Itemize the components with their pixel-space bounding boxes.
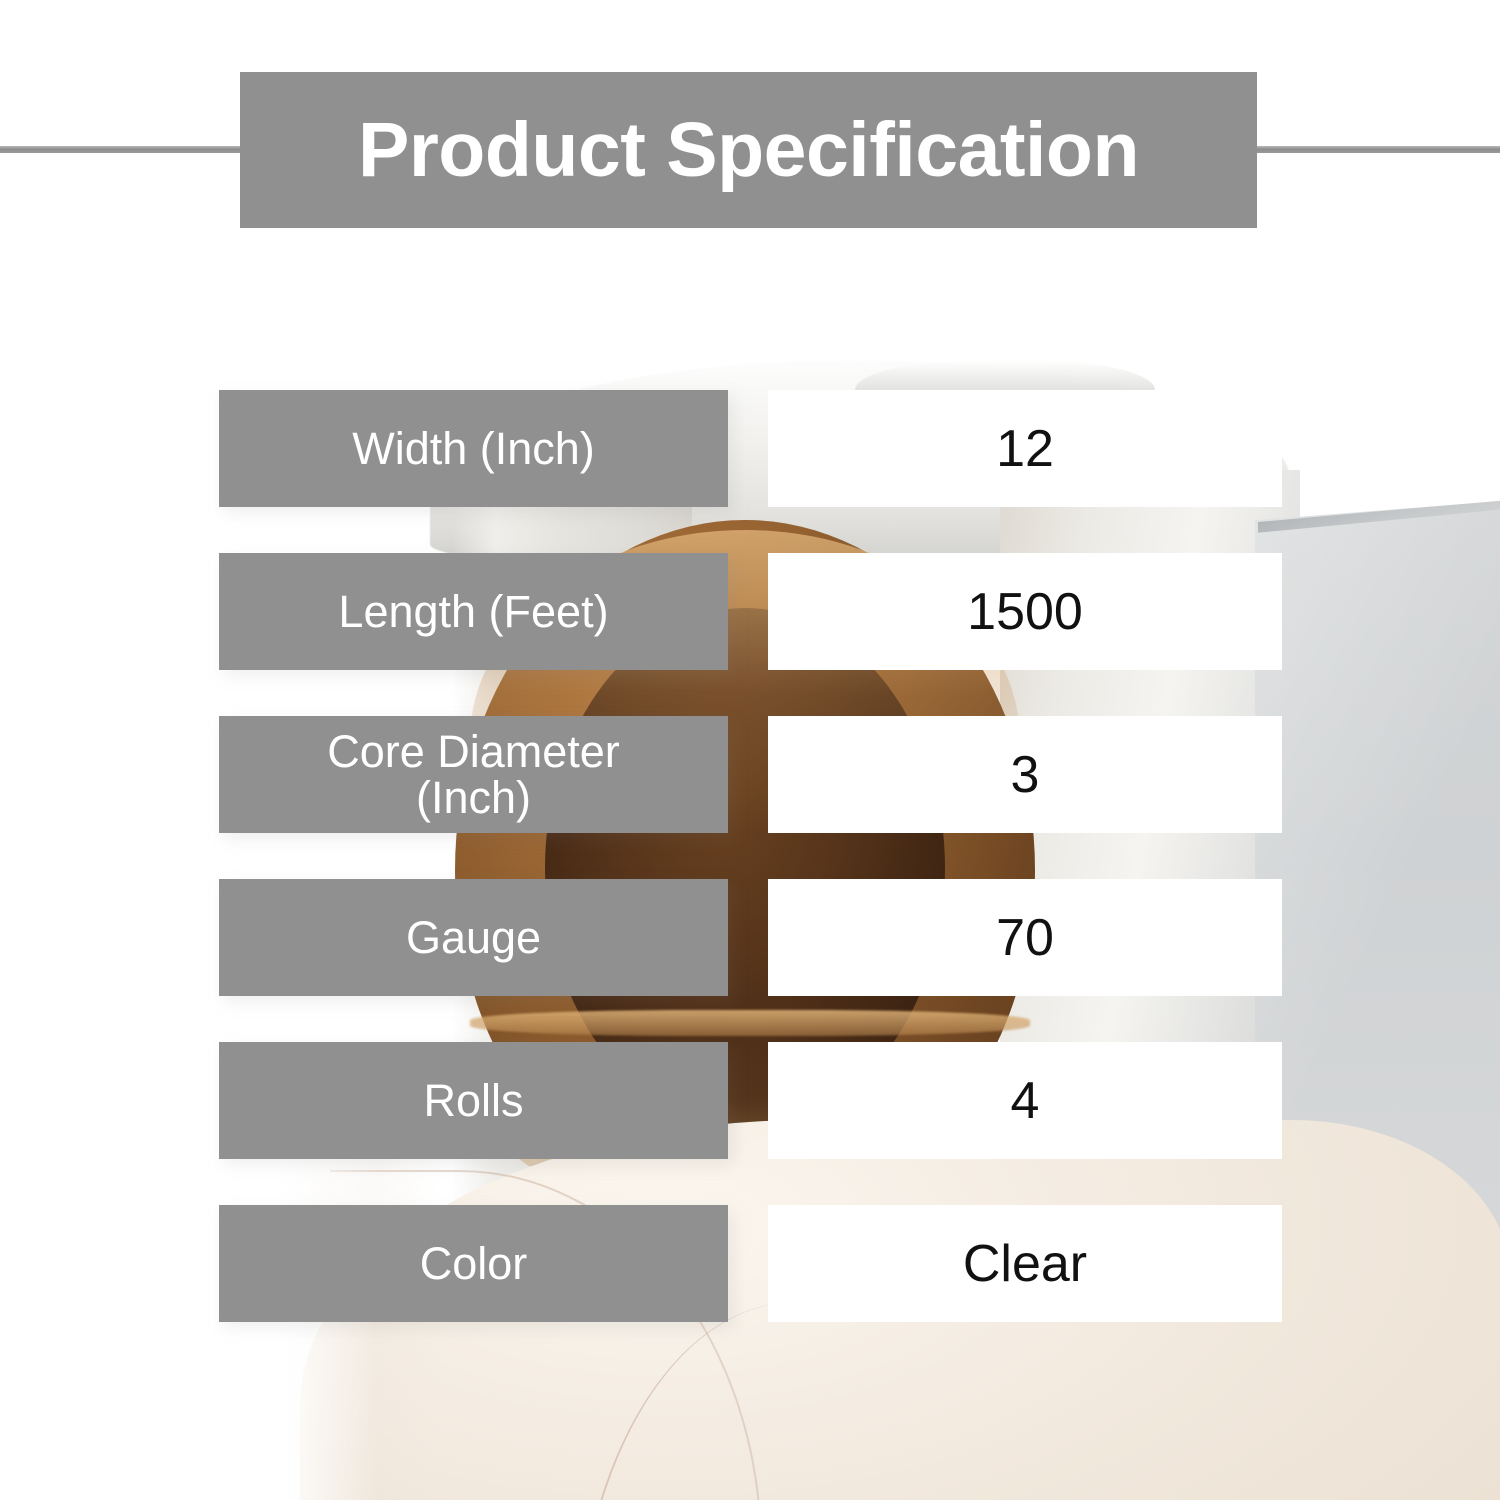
specification-table: Width (Inch)12Length (Feet)1500Core Diam… — [0, 0, 1500, 1500]
spec-label-cell: Width (Inch) — [219, 390, 728, 507]
spec-label-text: Color — [420, 1241, 528, 1287]
spec-value-cell: 70 — [768, 879, 1282, 996]
spec-label-cell: Core Diameter (Inch) — [219, 716, 728, 833]
spec-label-text: Gauge — [406, 915, 541, 961]
spec-label-text: Rolls — [423, 1078, 523, 1124]
spec-label-cell: Color — [219, 1205, 728, 1322]
spec-label-cell: Gauge — [219, 879, 728, 996]
spec-value-cell: 12 — [768, 390, 1282, 507]
spec-value-cell: 1500 — [768, 553, 1282, 670]
spec-value-text: 1500 — [967, 586, 1083, 638]
spec-value-cell: 4 — [768, 1042, 1282, 1159]
spec-row: Length (Feet)1500 — [0, 553, 1500, 670]
spec-row: ColorClear — [0, 1205, 1500, 1322]
spec-row: Gauge70 — [0, 879, 1500, 996]
spec-label-text: Length (Feet) — [338, 589, 608, 635]
spec-value-text: Clear — [963, 1238, 1087, 1290]
spec-value-text: 70 — [996, 912, 1054, 964]
spec-label-cell: Rolls — [219, 1042, 728, 1159]
spec-value-text: 3 — [1011, 749, 1040, 801]
product-specification-page: Product Specification Width (Inch)12Leng… — [0, 0, 1500, 1500]
spec-label-text: Width (Inch) — [352, 426, 595, 472]
spec-value-text: 4 — [1011, 1075, 1040, 1127]
spec-row: Rolls4 — [0, 1042, 1500, 1159]
spec-value-text: 12 — [996, 423, 1054, 475]
spec-label-text: Core Diameter (Inch) — [327, 729, 620, 821]
spec-row: Width (Inch)12 — [0, 390, 1500, 507]
spec-label-cell: Length (Feet) — [219, 553, 728, 670]
spec-row: Core Diameter (Inch)3 — [0, 716, 1500, 833]
spec-value-cell: 3 — [768, 716, 1282, 833]
spec-value-cell: Clear — [768, 1205, 1282, 1322]
